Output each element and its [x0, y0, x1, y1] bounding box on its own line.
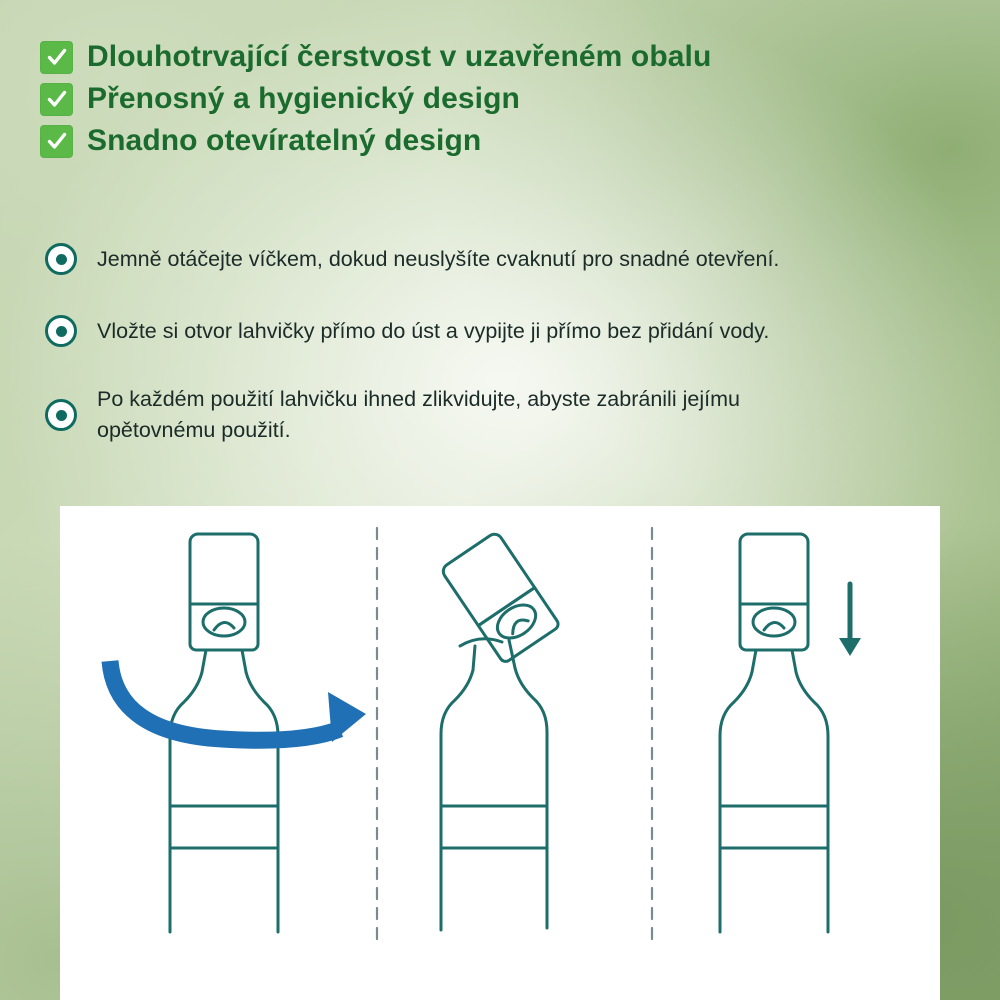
bottle-opening-steps-diagram: [60, 506, 940, 962]
instruction-item: Vložte si otvor lahvičky přímo do úst a …: [40, 300, 990, 362]
instruction-label: Vložte si otvor lahvičky přímo do úst a …: [97, 316, 769, 347]
check-icon: [40, 41, 73, 74]
feature-label: Snadno otevíratelný design: [87, 124, 481, 158]
check-icon: [40, 83, 73, 116]
radio-dot-icon: [45, 399, 77, 431]
feature-item: Snadno otevíratelný design: [40, 124, 960, 158]
feature-item: Přenosný a hygienický design: [40, 82, 960, 116]
instruction-label-line: opětovnému použití.: [97, 418, 291, 442]
radio-dot-icon: [45, 243, 77, 275]
instruction-label-line: Po každém použití lahvičku ihned zlikvid…: [97, 387, 740, 411]
instruction-label: Jemně otáčejte víčkem, dokud neuslyšíte …: [97, 244, 779, 275]
feature-item: Dlouhotrvající čerstvost v uzavřeném oba…: [40, 40, 960, 74]
instruction-item: Po každém použití lahvičku ihned zlikvid…: [40, 384, 990, 446]
instruction-list: Jemně otáčejte víčkem, dokud neuslyšíte …: [40, 228, 990, 446]
instruction-item: Jemně otáčejte víčkem, dokud neuslyšíte …: [40, 228, 990, 290]
page-root: Dlouhotrvající čerstvost v uzavřeném oba…: [0, 0, 1000, 1000]
feature-label: Dlouhotrvající čerstvost v uzavřeném oba…: [87, 40, 711, 74]
diagram-svg: [60, 506, 940, 962]
instruction-label: Po každém použití lahvičku ihned zlikvid…: [97, 384, 740, 445]
check-icon: [40, 125, 73, 158]
radio-dot-icon: [45, 315, 77, 347]
feature-label: Přenosný a hygienický design: [87, 82, 520, 116]
feature-list: Dlouhotrvající čerstvost v uzavřeném oba…: [40, 40, 960, 166]
panel-bottom-fill: [60, 962, 940, 1000]
